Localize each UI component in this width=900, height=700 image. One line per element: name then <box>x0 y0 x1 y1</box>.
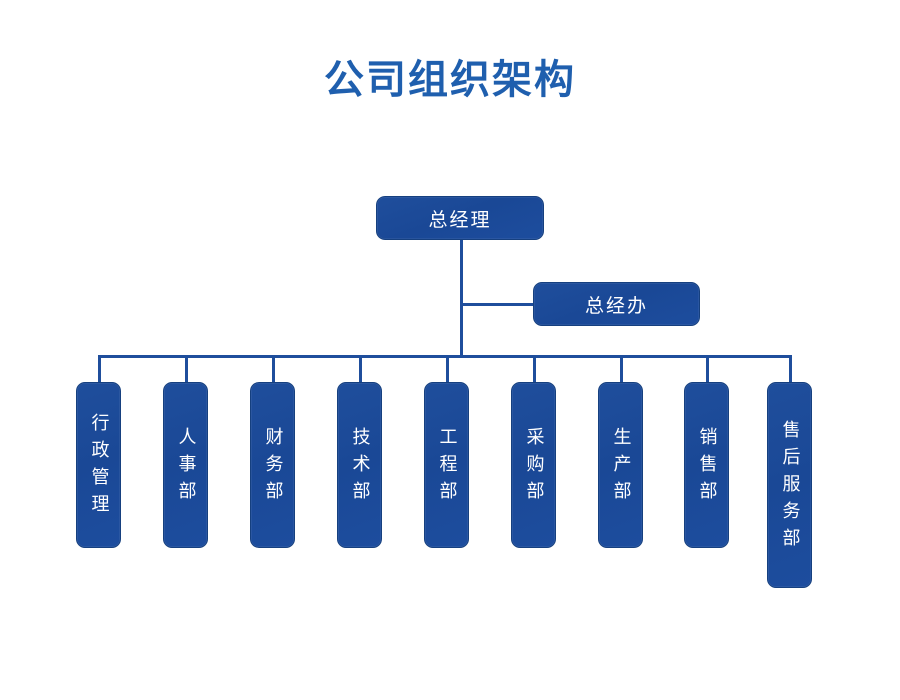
node-department-sales-label: 销售部 <box>698 427 716 508</box>
connector-drop-5 <box>446 355 449 383</box>
node-department-procurement-label: 采购部 <box>525 427 543 508</box>
node-general-manager[interactable]: 总经理 <box>376 196 544 240</box>
node-department-procurement[interactable]: 采购部 <box>511 382 556 548</box>
node-department-after-sales-service-label: 售后服务部 <box>781 420 799 555</box>
node-department-human-resources[interactable]: 人事部 <box>163 382 208 548</box>
connector-drop-3 <box>272 355 275 383</box>
connector-drop-6 <box>533 355 536 383</box>
node-department-finance[interactable]: 财务部 <box>250 382 295 548</box>
connector-drop-9 <box>789 355 792 383</box>
node-department-engineering-label: 工程部 <box>438 427 456 508</box>
node-department-technology[interactable]: 技术部 <box>337 382 382 548</box>
node-department-administration[interactable]: 行政管理 <box>76 382 121 548</box>
node-department-finance-label: 财务部 <box>264 427 282 508</box>
node-general-manager-office-label: 总经办 <box>585 291 648 318</box>
node-general-manager-office[interactable]: 总经办 <box>533 282 700 326</box>
page-title: 公司组织架构 <box>0 58 900 102</box>
connector-drop-7 <box>620 355 623 383</box>
connector-department-bus <box>98 355 792 358</box>
connector-drop-4 <box>359 355 362 383</box>
node-department-production[interactable]: 生产部 <box>598 382 643 548</box>
node-department-sales[interactable]: 销售部 <box>684 382 729 548</box>
node-general-manager-label: 总经理 <box>428 205 491 232</box>
node-department-engineering[interactable]: 工程部 <box>424 382 469 548</box>
node-department-after-sales-service[interactable]: 售后服务部 <box>767 382 812 588</box>
node-department-administration-label: 行政管理 <box>90 413 108 521</box>
node-department-technology-label: 技术部 <box>351 427 369 508</box>
connector-drop-1 <box>98 355 101 383</box>
connector-trunk-vertical <box>460 239 463 357</box>
connector-staff-horizontal <box>460 303 534 306</box>
org-chart-slide: 公司组织架构 总经理 总经办 行政管理 人事部 财务部 技术部 工程部 采购部 <box>0 0 900 700</box>
connector-drop-2 <box>185 355 188 383</box>
node-department-human-resources-label: 人事部 <box>177 427 195 508</box>
node-department-production-label: 生产部 <box>612 427 630 508</box>
connector-drop-8 <box>706 355 709 383</box>
